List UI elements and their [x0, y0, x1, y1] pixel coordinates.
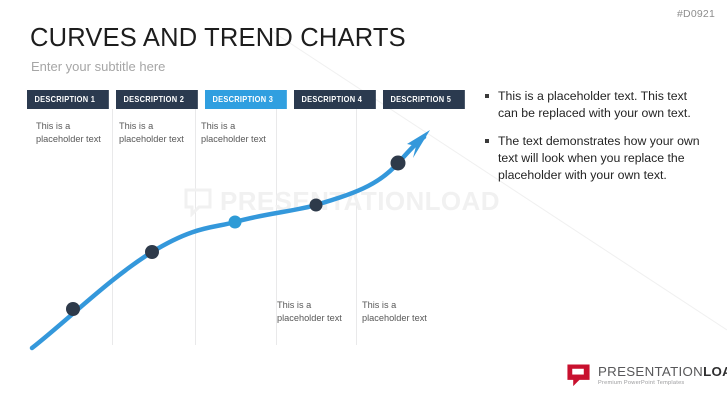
trend-arrow-head	[407, 130, 430, 158]
page-title: CURVES AND TREND CHARTS	[30, 24, 406, 53]
column-header-3[interactable]: DESCRIPTION 3	[205, 90, 287, 109]
data-point-4	[310, 199, 323, 212]
watermark-text: PRESENTATIONLOAD	[220, 186, 500, 217]
logo-name-bold: LOAD	[703, 364, 727, 379]
bullet-item-1: This is a placeholder text. This text ca…	[485, 88, 710, 122]
bullet-square-icon	[485, 94, 489, 98]
column-text-4: This is a placeholder text	[277, 299, 355, 325]
column-text-1: This is a placeholder text	[36, 120, 114, 146]
logo-tagline: Premium PowerPoint Templates	[598, 381, 727, 387]
slide-canvas: #D0921 CURVES AND TREND CHARTS Enter you…	[0, 0, 727, 409]
data-point-3-active	[229, 216, 242, 229]
presentationload-logo: PRESENTATIONLOAD® Premium PowerPoint Tem…	[566, 363, 727, 388]
bullet-list: This is a placeholder text. This text ca…	[485, 88, 710, 195]
column-header-5[interactable]: DESCRIPTION 5	[383, 90, 465, 109]
column-text-3: This is a placeholder text	[201, 120, 279, 146]
watermark: PRESENTATIONLOAD	[183, 186, 500, 217]
logo-name: PRESENTATIONLOAD®	[598, 365, 727, 378]
column-header-2[interactable]: DESCRIPTION 2	[116, 90, 198, 109]
column-header-1[interactable]: DESCRIPTION 1	[27, 90, 109, 109]
logo-name-light: PRESENTATION	[598, 364, 703, 379]
watermark-bubble-icon	[183, 187, 213, 217]
bullet-item-2: The text demonstrates how your own text …	[485, 133, 710, 184]
column-header-4[interactable]: DESCRIPTION 4	[294, 90, 376, 109]
data-point-1	[66, 302, 80, 316]
bullet-square-icon	[485, 139, 489, 143]
bullet-text-2: The text demonstrates how your own text …	[498, 133, 710, 184]
column-text-2: This is a placeholder text	[119, 120, 197, 146]
column-text-5: This is a placeholder text	[362, 299, 440, 325]
speech-bubble-icon	[566, 363, 591, 388]
column-header-bar: DESCRIPTION 1 DESCRIPTION 2 DESCRIPTION …	[27, 90, 444, 109]
data-point-2	[145, 245, 159, 259]
column-divider-4	[356, 109, 357, 345]
logo-wordmark: PRESENTATIONLOAD® Premium PowerPoint Tem…	[598, 365, 727, 387]
page-subtitle: Enter your subtitle here	[31, 59, 165, 74]
document-code: #D0921	[677, 8, 715, 20]
data-point-5	[391, 156, 406, 171]
bullet-text-1: This is a placeholder text. This text ca…	[498, 88, 710, 122]
